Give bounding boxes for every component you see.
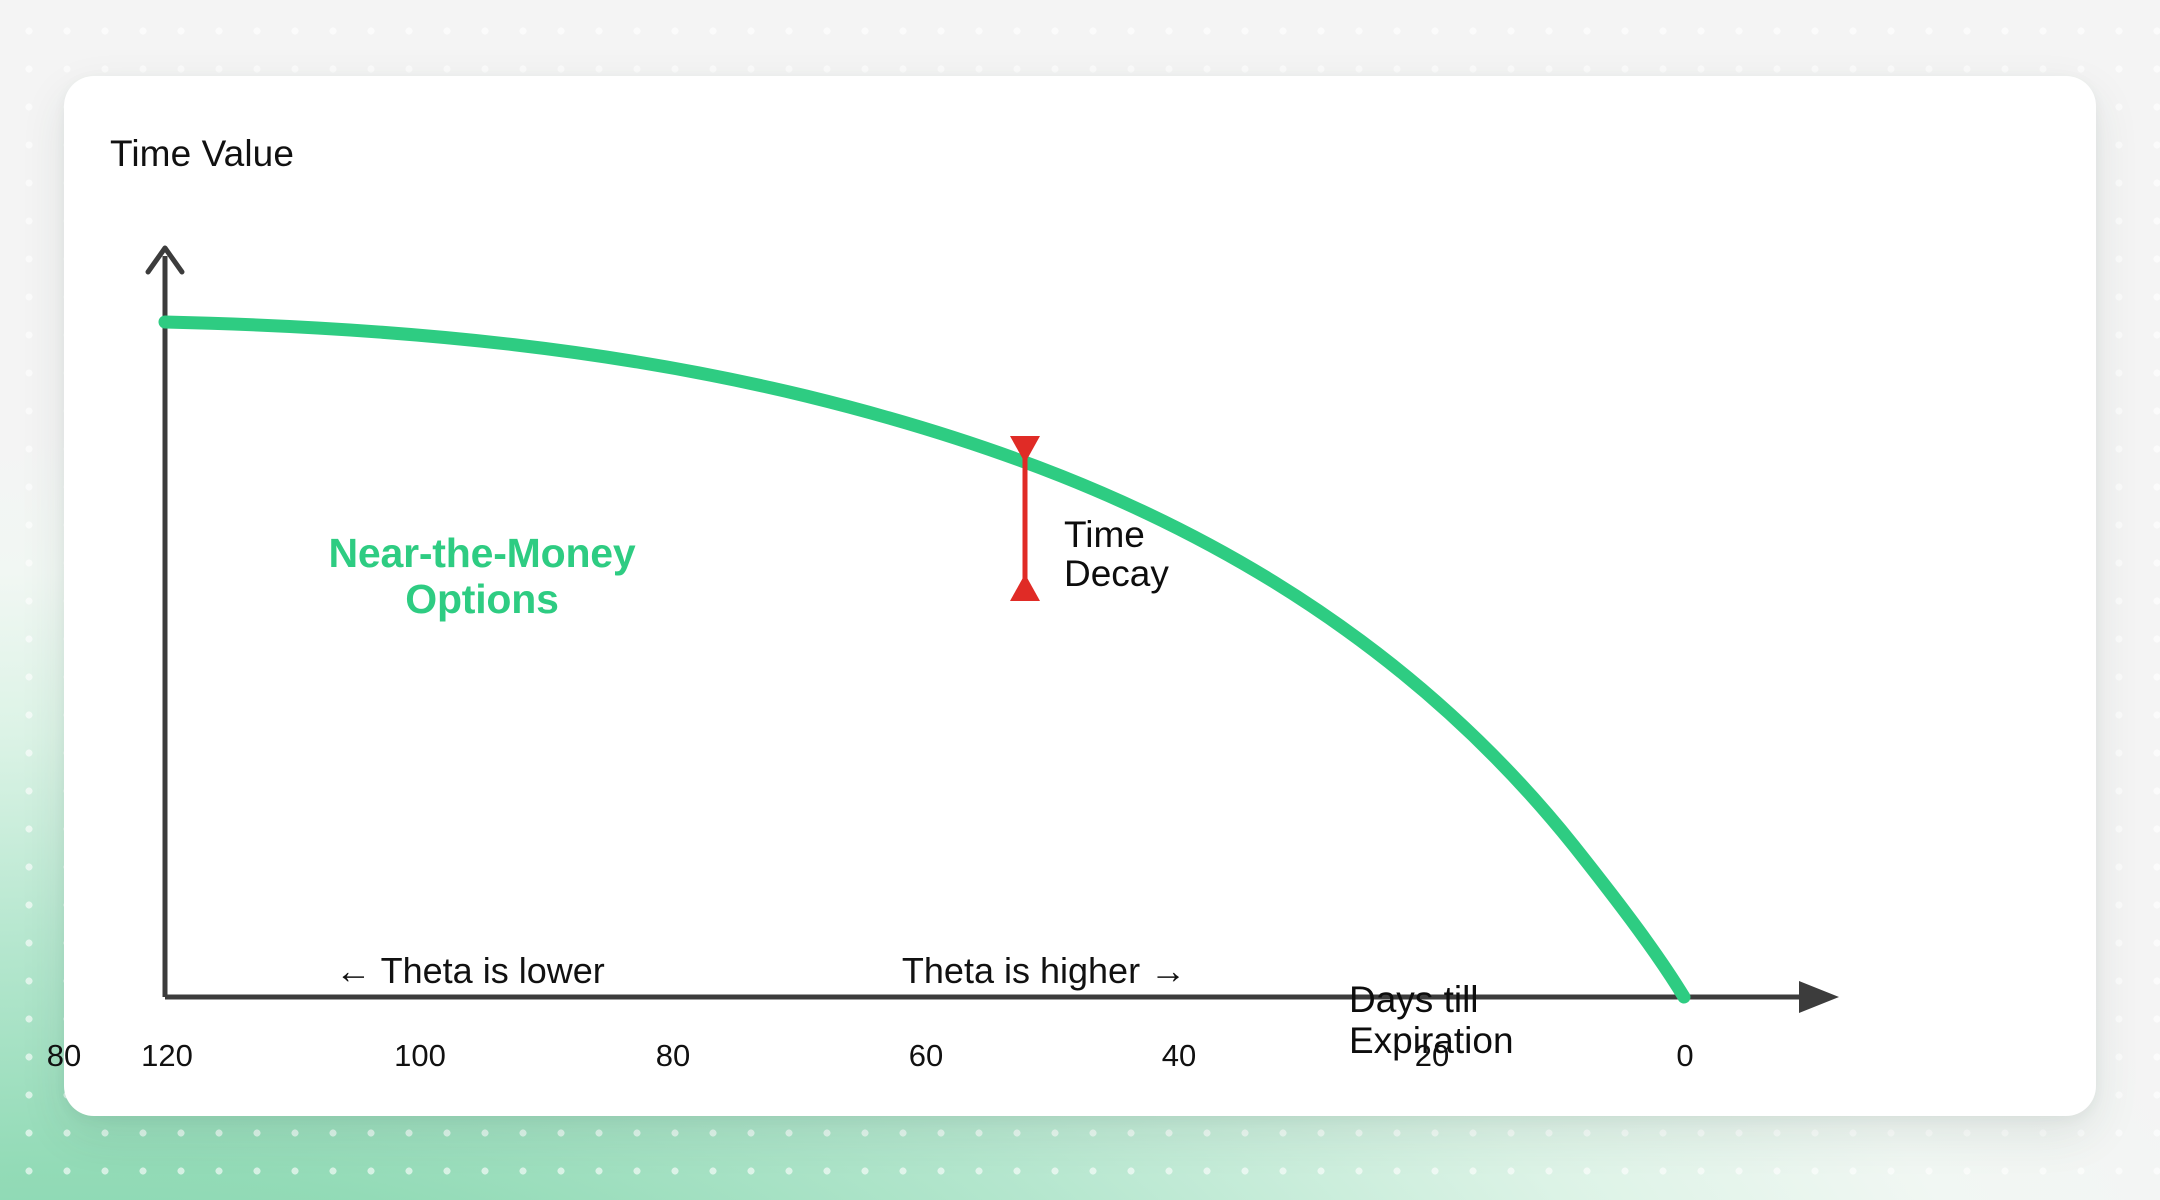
x-axis-title-line-2: Expiration bbox=[1349, 1020, 1649, 1061]
chart-plot-area: Near-the-Money Options Time Decay ← Thet… bbox=[64, 76, 2096, 1116]
time-decay-arrow-down-icon bbox=[1010, 574, 1040, 601]
x-tick-label: 80 bbox=[656, 1038, 690, 1074]
time-decay-label: Time Decay bbox=[1064, 516, 1169, 594]
x-tick-label: 60 bbox=[909, 1038, 943, 1074]
annotation-theta-higher: Theta is higher → bbox=[834, 950, 1254, 992]
x-tick-label: 120 bbox=[141, 1038, 193, 1074]
annotation-theta-lower: ← Theta is lower bbox=[260, 950, 680, 992]
time-decay-label-line-2: Decay bbox=[1064, 555, 1169, 594]
x-tick-label: 20 bbox=[1415, 1038, 1449, 1074]
x-tick-label: 100 bbox=[394, 1038, 446, 1074]
x-axis-title-line-1: Days till bbox=[1349, 979, 1649, 1020]
x-tick-label: 40 bbox=[1162, 1038, 1196, 1074]
series-label-near-the-money: Near-the-Money Options bbox=[252, 531, 712, 623]
x-tick-label: 0 bbox=[1676, 1038, 1693, 1074]
time-decay-label-line-1: Time bbox=[1064, 516, 1169, 555]
y-axis bbox=[148, 248, 182, 997]
series-label-line-2: Options bbox=[252, 577, 712, 623]
series-label-line-1: Near-the-Money bbox=[252, 531, 712, 577]
page-root: Time Value bbox=[0, 0, 2160, 1200]
x-tick-label: 80 bbox=[47, 1038, 81, 1074]
x-axis-title: Days till Expiration bbox=[1349, 979, 1649, 1062]
time-value-curve bbox=[165, 322, 1684, 997]
x-axis-arrowhead-icon bbox=[1799, 981, 1839, 1013]
chart-card: Time Value bbox=[64, 76, 2096, 1116]
